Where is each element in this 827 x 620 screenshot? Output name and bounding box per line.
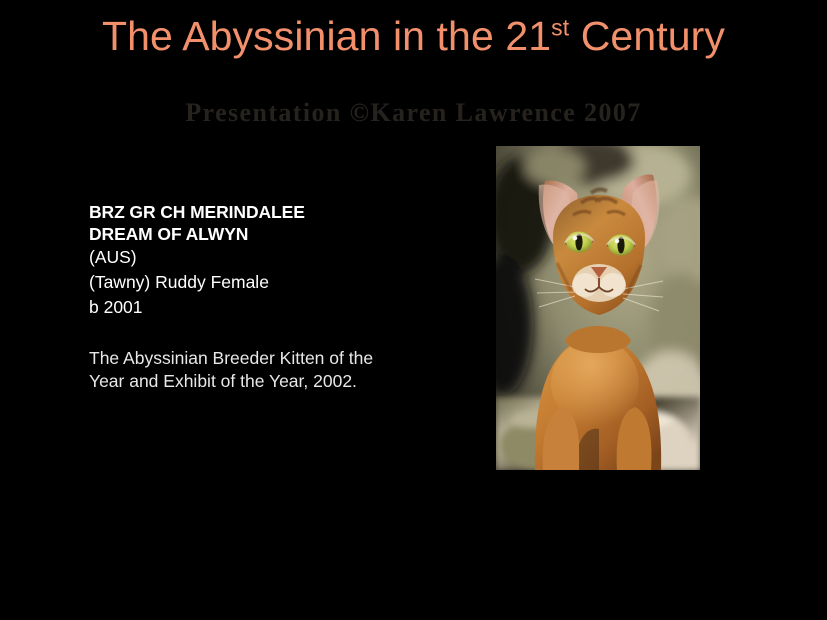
page-title: The Abyssinian in the 21st Century [0, 14, 827, 59]
title-text-after: Century [569, 13, 725, 59]
title-text-before: The Abyssinian in the 21 [102, 13, 551, 59]
cat-photo-illustration [495, 145, 701, 471]
cat-color-and-sex: (Tawny) Ruddy Female [89, 270, 419, 295]
copyright-credit: Presentation ©Karen Lawrence 2007 [0, 99, 827, 128]
title-superscript-st: st [551, 14, 569, 40]
cat-country: (AUS) [89, 245, 419, 270]
cat-info-block: BRZ GR CH MERINDALEE DREAM OF ALWYN (AUS… [89, 201, 419, 394]
cat-birth-year: b 2001 [89, 295, 419, 320]
cat-name-line-1: BRZ GR CH MERINDALEE [89, 201, 419, 223]
cat-name-line-2: DREAM OF ALWYN [89, 223, 419, 245]
cat-photograph [495, 145, 701, 471]
cat-award-description: The Abyssinian Breeder Kitten of the Yea… [89, 320, 404, 394]
presentation-slide: The Abyssinian in the 21st Century Prese… [0, 0, 827, 620]
